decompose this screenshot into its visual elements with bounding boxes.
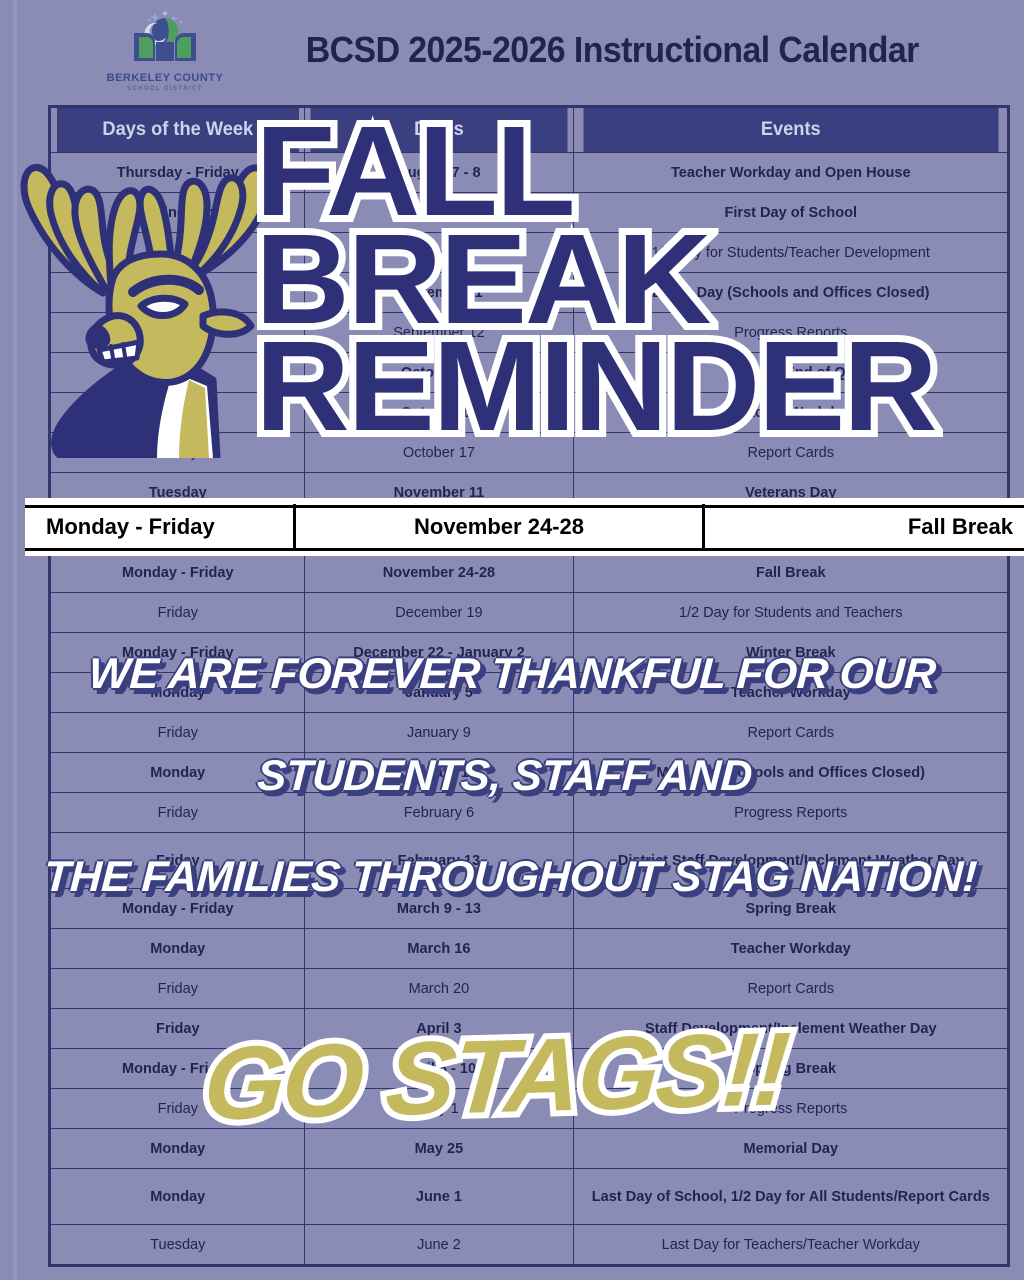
row-cell-events: Report Cards bbox=[580, 713, 1001, 753]
flyer-inner: BERKELEY COUNTY SCHOOL DISTRICT BCSD 202… bbox=[13, 0, 1024, 1280]
book-globe-logo-icon bbox=[122, 9, 208, 69]
highlight-rule-top bbox=[25, 505, 1024, 508]
row-cell-days: Monday bbox=[54, 1169, 300, 1225]
fall-break-highlight-row: Monday - Friday November 24-28 Fall Brea… bbox=[25, 503, 1024, 551]
highlight-rule-bottom bbox=[25, 548, 1024, 551]
logo-district-sub: SCHOOL DISTRICT bbox=[127, 86, 203, 92]
table-row: MondayJune 1Last Day of School, 1/2 Day … bbox=[51, 1169, 1008, 1225]
row-cell-events: Last Day for Teachers/Teacher Workday bbox=[580, 1225, 1001, 1265]
row-cell-events: Last Day of School, 1/2 Day for All Stud… bbox=[580, 1169, 1001, 1225]
row-cell-days: Friday bbox=[54, 713, 300, 753]
row-cell-dates: March 20 bbox=[308, 969, 570, 1009]
thankful-line-3: THE FAMILIES THROUGHOUT STAG NATION! bbox=[43, 858, 978, 898]
headline-line-1: FALL BREAK bbox=[255, 118, 1024, 333]
overlay-headline: FALL BREAK REMINDER bbox=[263, 118, 1024, 441]
row-cell-events: Report Cards bbox=[580, 969, 1001, 1009]
table-row: MondayMarch 16Teacher Workday bbox=[51, 929, 1008, 969]
table-row: Monday - FridayNovember 24-28Fall Break bbox=[51, 553, 1008, 593]
row-cell-dates: March 16 bbox=[308, 929, 570, 969]
row-cell-days: Friday bbox=[54, 969, 300, 1009]
row-cell-days: Monday bbox=[54, 929, 300, 969]
table-row: MondayMay 25Memorial Day bbox=[51, 1129, 1008, 1169]
flyer-canvas: BERKELEY COUNTY SCHOOL DISTRICT BCSD 202… bbox=[0, 0, 1024, 1280]
highlight-events: Fall Break bbox=[705, 514, 1024, 540]
row-cell-events: Memorial Day bbox=[580, 1129, 1001, 1169]
highlight-days: Monday - Friday bbox=[25, 514, 293, 540]
logo-district-name: BERKELEY COUNTY bbox=[107, 72, 224, 84]
thankful-line-1: WE ARE FOREVER THANKFUL FOR OUR bbox=[88, 655, 937, 695]
thankful-line-2: STUDENTS, STAFF AND bbox=[256, 757, 753, 797]
page-title: BCSD 2025-2026 Instructional Calendar bbox=[249, 29, 1000, 71]
row-cell-events: 1/2 Day for Students and Teachers bbox=[580, 593, 1001, 633]
row-cell-dates: June 2 bbox=[308, 1225, 570, 1265]
row-cell-events: Teacher Workday bbox=[580, 929, 1001, 969]
row-cell-dates: June 1 bbox=[308, 1169, 570, 1225]
row-cell-days: Friday bbox=[54, 593, 300, 633]
row-cell-days: Tuesday bbox=[54, 1225, 300, 1265]
highlight-dates: November 24-28 bbox=[296, 514, 702, 540]
go-stags-cheer: GO STAGS!! bbox=[201, 1022, 790, 1133]
table-row: TuesdayJune 2Last Day for Teachers/Teach… bbox=[51, 1225, 1008, 1265]
row-cell-events: Fall Break bbox=[580, 553, 1001, 593]
flyer-header: BERKELEY COUNTY SCHOOL DISTRICT BCSD 202… bbox=[17, 0, 1024, 100]
row-cell-dates: January 9 bbox=[308, 713, 570, 753]
table-row: FridayMarch 20Report Cards bbox=[51, 969, 1008, 1009]
district-logo: BERKELEY COUNTY SCHOOL DISTRICT bbox=[105, 9, 225, 92]
row-cell-dates: November 24-28 bbox=[308, 553, 570, 593]
row-cell-days: Monday - Friday bbox=[54, 553, 300, 593]
table-row: FridayDecember 191/2 Day for Students an… bbox=[51, 593, 1008, 633]
headline-line-2: REMINDER bbox=[255, 333, 1024, 441]
table-row: FridayJanuary 9Report Cards bbox=[51, 713, 1008, 753]
row-cell-dates: December 19 bbox=[308, 593, 570, 633]
